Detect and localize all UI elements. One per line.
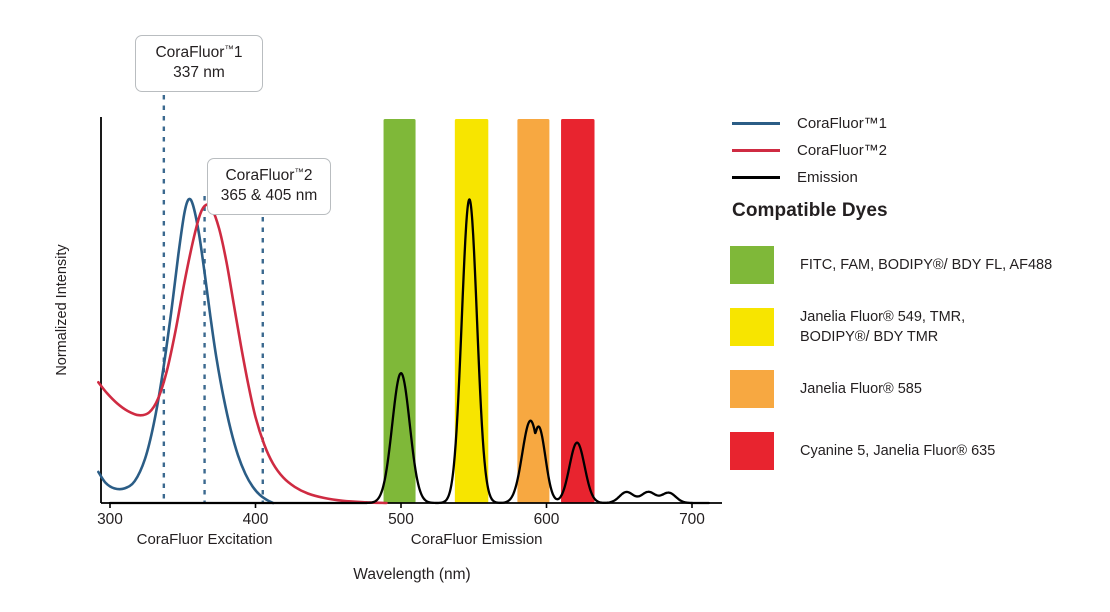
- red-band: [561, 119, 594, 503]
- spectra-figure: CoraFluor™1 337 nm CoraFluor™2 365 & 405…: [0, 0, 1110, 612]
- dye-color-swatch: [730, 308, 774, 346]
- legend-item-2: CoraFluor™2: [732, 137, 1092, 164]
- x-tick-label-300: 300: [97, 511, 123, 529]
- legend-item-1: CoraFluor™1: [732, 110, 1092, 137]
- dye-color-swatch: [730, 370, 774, 408]
- callout-corafluor-1: CoraFluor™1 337 nm: [135, 35, 263, 92]
- legend-line-swatch: [732, 122, 780, 125]
- x-tick-label-700: 700: [679, 511, 705, 529]
- dye-item-label: Janelia Fluor® 549, TMR,BODIPY®/ BDY TMR: [800, 307, 965, 347]
- y-axis-title: Normalized Intensity: [54, 244, 70, 375]
- legend-line-swatch: [732, 176, 780, 179]
- x-tick-label-500: 500: [388, 511, 414, 529]
- series-legend: CoraFluor™1CoraFluor™2Emission: [732, 110, 1092, 191]
- legend-item-3: Emission: [732, 164, 1092, 191]
- legend-item-label: Emission: [797, 169, 858, 186]
- green-band: [384, 119, 416, 503]
- compatible-dyes-list: FITC, FAM, BODIPY®/ BDY FL, AF488Janelia…: [730, 234, 1100, 482]
- compatible-dyes-heading: Compatible Dyes: [732, 200, 888, 222]
- x-axis-title: Wavelength (nm): [353, 566, 470, 584]
- callout-corafluor-2: CoraFluor™2 365 & 405 nm: [207, 158, 331, 215]
- dye-item-1: FITC, FAM, BODIPY®/ BDY FL, AF488: [730, 234, 1100, 296]
- callout-2-line2: 365 & 405 nm: [218, 186, 320, 206]
- dye-color-swatch: [730, 432, 774, 470]
- dye-item-4: Cyanine 5, Janelia Fluor® 635: [730, 420, 1100, 482]
- legend-item-label: CoraFluor™1: [797, 115, 887, 132]
- dye-item-2: Janelia Fluor® 549, TMR,BODIPY®/ BDY TMR: [730, 296, 1100, 358]
- dye-item-label: Cyanine 5, Janelia Fluor® 635: [800, 441, 995, 461]
- curve-corafluor-1: [98, 199, 273, 503]
- dye-color-swatch: [730, 246, 774, 284]
- dye-item-3: Janelia Fluor® 585: [730, 358, 1100, 420]
- callout-1-line2: 337 nm: [146, 63, 252, 83]
- legend-item-label: CoraFluor™2: [797, 142, 887, 159]
- legend-line-swatch: [732, 149, 780, 152]
- dye-item-label: Janelia Fluor® 585: [800, 379, 922, 399]
- callout-1-line1: CoraFluor™1: [146, 43, 252, 63]
- x-tick-label-600: 600: [534, 511, 560, 529]
- x-tick-label-400: 400: [243, 511, 269, 529]
- x-axis-sublabel-excitation: CoraFluor Excitation: [137, 531, 273, 548]
- x-axis-sublabel-emission: CoraFluor Emission: [411, 531, 543, 548]
- callout-2-line1: CoraFluor™2: [218, 166, 320, 186]
- curve-corafluor-2: [98, 205, 386, 503]
- dye-item-label: FITC, FAM, BODIPY®/ BDY FL, AF488: [800, 255, 1052, 275]
